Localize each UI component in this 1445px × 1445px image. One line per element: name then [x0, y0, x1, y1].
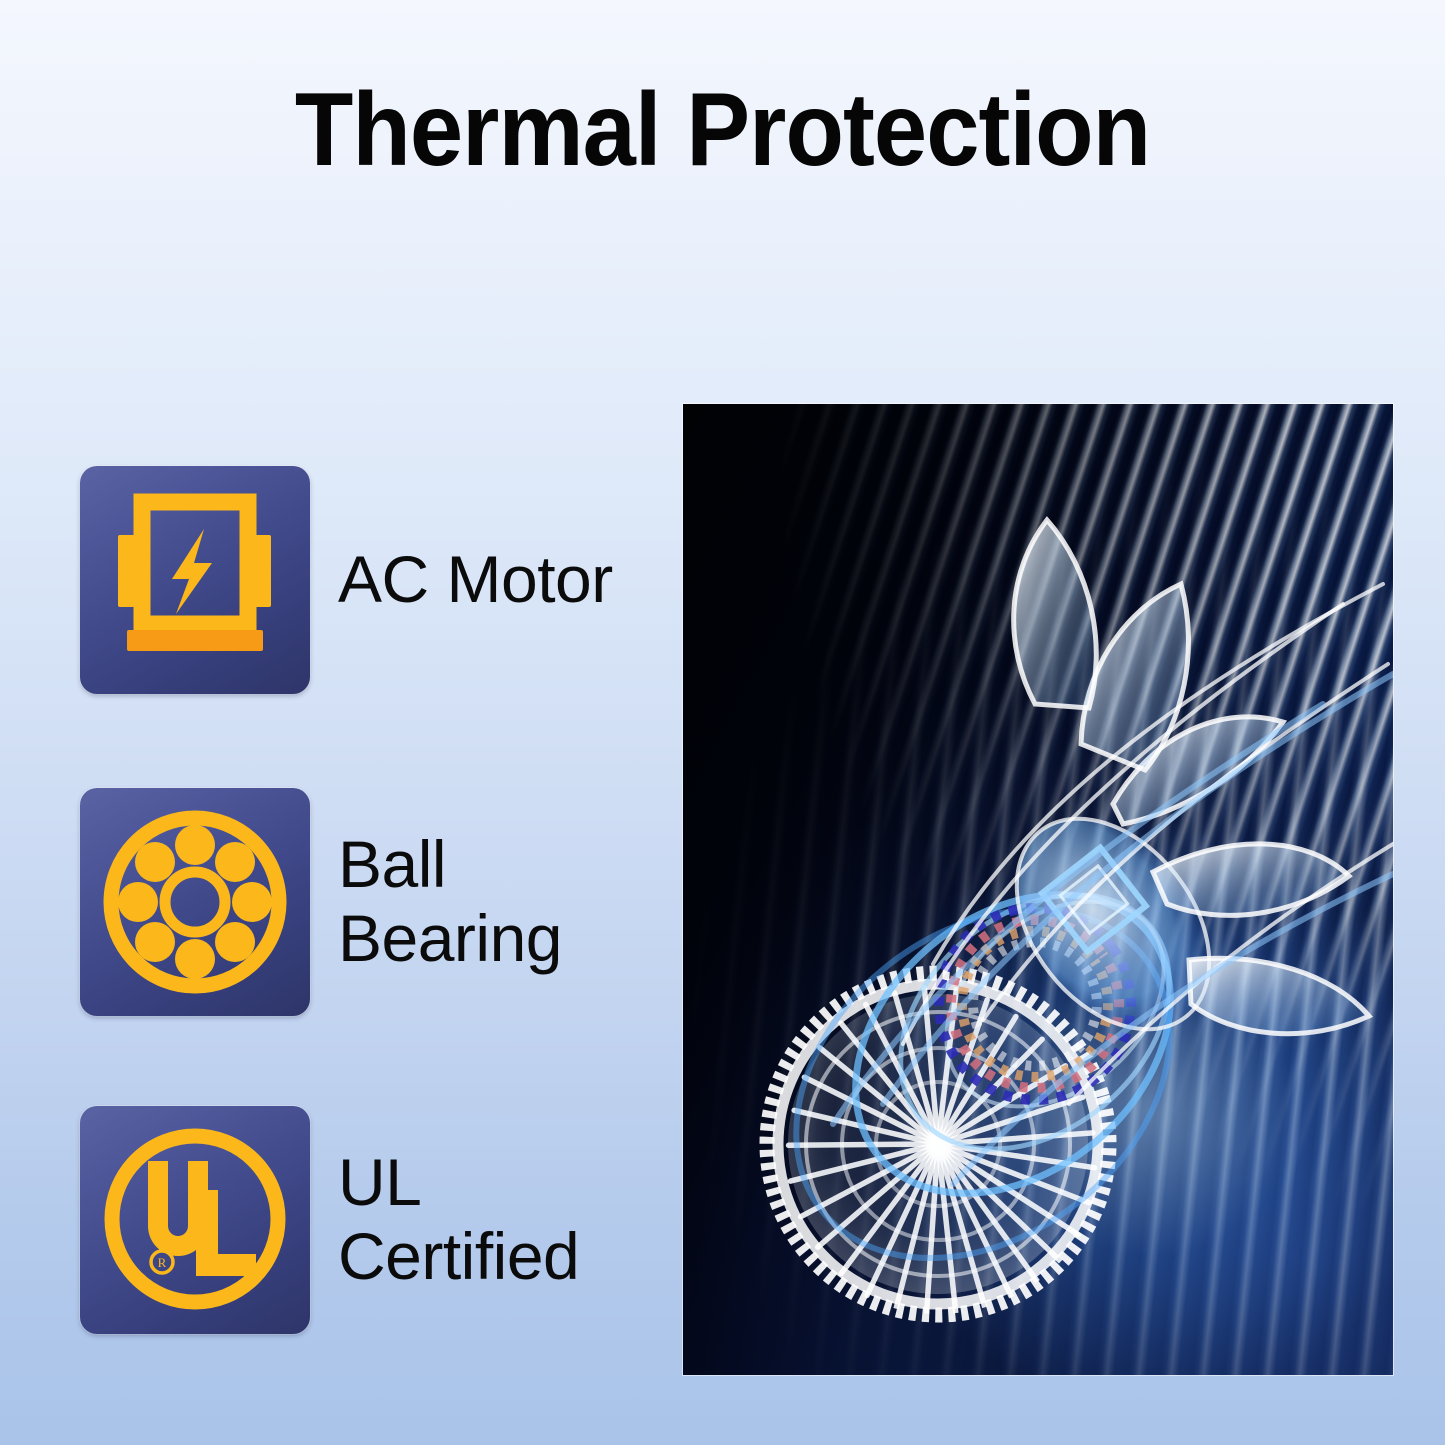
feature-icon-tile-ac-motor: [80, 466, 310, 694]
feature-icon-tile-ul-certified: R: [80, 1106, 310, 1334]
feature-row-ac-motor: AC Motor: [80, 466, 613, 694]
feature-label-ball-bearing: Ball Bearing: [338, 828, 562, 976]
svg-text:R: R: [158, 1255, 167, 1270]
motor-assembly-illustration: [683, 404, 1393, 1375]
feature-icon-tile-ball-bearing: [80, 788, 310, 1016]
feature-row-ball-bearing: Ball Bearing: [80, 788, 562, 1016]
feature-label-ul-certified: UL Certified: [338, 1146, 579, 1294]
page-title: Thermal Protection: [58, 78, 1387, 182]
product-image: [683, 404, 1393, 1375]
promo-graphic: Thermal Protection AC Motor: [0, 0, 1445, 1445]
feature-row-ul-certified: R UL Certified: [80, 1106, 579, 1334]
feature-label-ac-motor: AC Motor: [338, 543, 613, 617]
